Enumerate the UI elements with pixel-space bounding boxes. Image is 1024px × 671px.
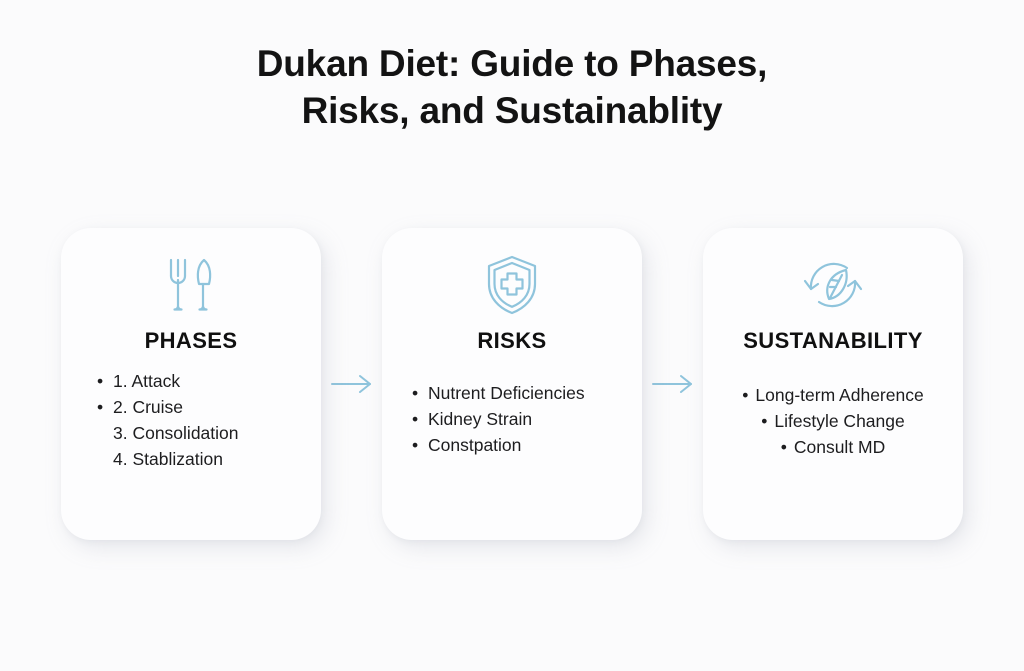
leaf-recycle-icon [801, 254, 865, 316]
list-item: Lifestyle Change [742, 408, 923, 434]
page-title: Dukan Diet: Guide to Phases, Risks, and … [0, 40, 1024, 134]
connector-phases-to-risks [321, 228, 382, 540]
card-heading-risks: RISKS [477, 328, 546, 354]
list-item: Consult MD [742, 434, 923, 460]
list-item: Long-term Adherence [742, 382, 923, 408]
list-item: 2. Cruise [97, 394, 239, 420]
connector-risks-to-sustanability [642, 228, 703, 540]
arrow-right-icon [330, 374, 374, 394]
list-item: Nutrent Deficiencies [412, 380, 585, 406]
card-phases: PHASES 1. Attack 2. Cruise 3. Consolidat… [61, 228, 321, 540]
list-item: 1. Attack [97, 368, 239, 394]
risks-list: Nutrent Deficiencies Kidney Strain Const… [412, 380, 585, 458]
page-title-line-2: Risks, and Sustainablity [0, 87, 1024, 134]
list-item: 4. Stablization [97, 446, 239, 472]
shield-medical-icon [483, 254, 541, 316]
list-item: Kidney Strain [412, 406, 585, 432]
page-title-line-1: Dukan Diet: Guide to Phases, [0, 40, 1024, 87]
cards-row: PHASES 1. Attack 2. Cruise 3. Consolidat… [0, 228, 1024, 540]
fork-and-knife-icon [163, 254, 219, 316]
list-item: 3. Consolidation [97, 420, 239, 446]
phases-list: 1. Attack 2. Cruise 3. Consolidation 4. … [97, 368, 239, 472]
sustanability-list: Long-term Adherence Lifestyle Change Con… [742, 382, 923, 460]
card-sustanability: SUSTANABILITY Long-term Adherence Lifest… [703, 228, 963, 540]
card-heading-phases: PHASES [145, 328, 238, 354]
arrow-right-icon [651, 374, 695, 394]
card-heading-sustanability: SUSTANABILITY [743, 328, 923, 354]
card-risks: RISKS Nutrent Deficiencies Kidney Strain… [382, 228, 642, 540]
list-item: Constpation [412, 432, 585, 458]
